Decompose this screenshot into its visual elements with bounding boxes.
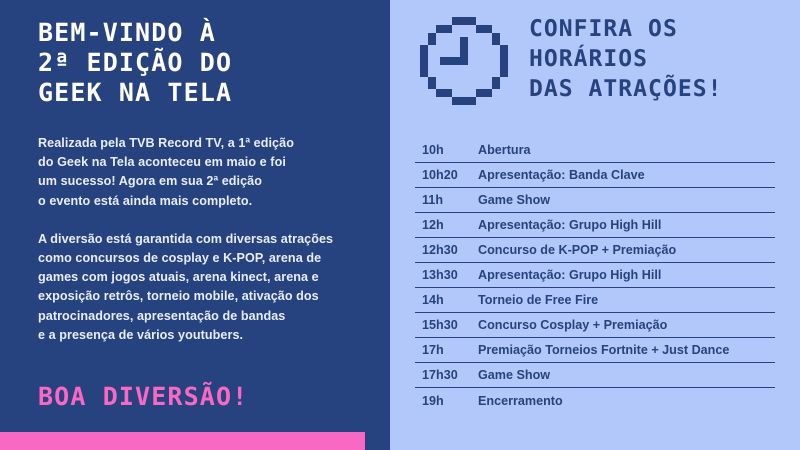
row-title: Apresentação: Grupo High Hill (478, 268, 661, 282)
row-time: 10h (415, 143, 478, 157)
table-row[interactable]: 12h30 Concurso de K-POP + Premiação (415, 238, 775, 263)
row-title: Apresentação: Grupo High Hill (478, 218, 661, 232)
table-row[interactable]: 10h Abertura (415, 138, 775, 163)
table-row[interactable]: 10h20 Apresentação: Banda Clave (415, 163, 775, 188)
row-time: 19h (415, 394, 478, 408)
schedule-heading: CONFIRA OS HORÁRIOS DAS ATRAÇÕES! (529, 14, 794, 104)
row-time: 10h20 (415, 168, 478, 182)
left-content: BEM-VINDO À 2ª EDIÇÃO DO GEEK NA TELA Re… (38, 18, 368, 358)
row-title: Concurso Cosplay + Premiação (478, 318, 667, 332)
table-row[interactable]: 14h Torneio de Free Fire (415, 288, 775, 313)
table-row[interactable]: 17h Premiação Torneios Fortnite + Just D… (415, 338, 775, 363)
intro-paragraph-1: Realizada pela TVB Record TV, a 1ª ediçã… (38, 134, 368, 211)
slogan-text: BOA DIVERSÃO! (38, 383, 248, 411)
row-time: 12h (415, 218, 478, 232)
table-row[interactable]: 19h Encerramento (415, 388, 775, 413)
left-panel: BEM-VINDO À 2ª EDIÇÃO DO GEEK NA TELA Re… (0, 0, 390, 450)
row-title: Premiação Torneios Fortnite + Just Dance (478, 343, 729, 357)
intro-paragraph-2: A diversão está garantida com diversas a… (38, 230, 368, 345)
table-row[interactable]: 11h Game Show (415, 188, 775, 213)
row-title: Encerramento (478, 394, 563, 408)
clock-icon (420, 16, 508, 106)
row-title: Concurso de K-POP + Premiação (478, 243, 676, 257)
row-time: 11h (415, 193, 478, 207)
row-title: Game Show (478, 193, 550, 207)
row-time: 17h30 (415, 368, 478, 382)
table-row[interactable]: 13h30 Apresentação: Grupo High Hill (415, 263, 775, 288)
table-row[interactable]: 12h Apresentação: Grupo High Hill (415, 213, 775, 238)
row-time: 15h30 (415, 318, 478, 332)
table-row[interactable]: 17h30 Game Show (415, 363, 775, 388)
row-time: 13h30 (415, 268, 478, 282)
row-time: 12h30 (415, 243, 478, 257)
page-title: BEM-VINDO À 2ª EDIÇÃO DO GEEK NA TELA (38, 18, 368, 108)
pink-accent-bar (0, 432, 365, 450)
row-time: 17h (415, 343, 478, 357)
row-title: Game Show (478, 368, 550, 382)
row-title: Abertura (478, 143, 530, 157)
row-title: Torneio de Free Fire (478, 293, 598, 307)
schedule-table: 10h Abertura 10h20 Apresentação: Banda C… (415, 138, 775, 413)
row-title: Apresentação: Banda Clave (478, 168, 645, 182)
poster-root: BEM-VINDO À 2ª EDIÇÃO DO GEEK NA TELA Re… (0, 0, 800, 450)
row-time: 14h (415, 293, 478, 307)
table-row[interactable]: 15h30 Concurso Cosplay + Premiação (415, 313, 775, 338)
